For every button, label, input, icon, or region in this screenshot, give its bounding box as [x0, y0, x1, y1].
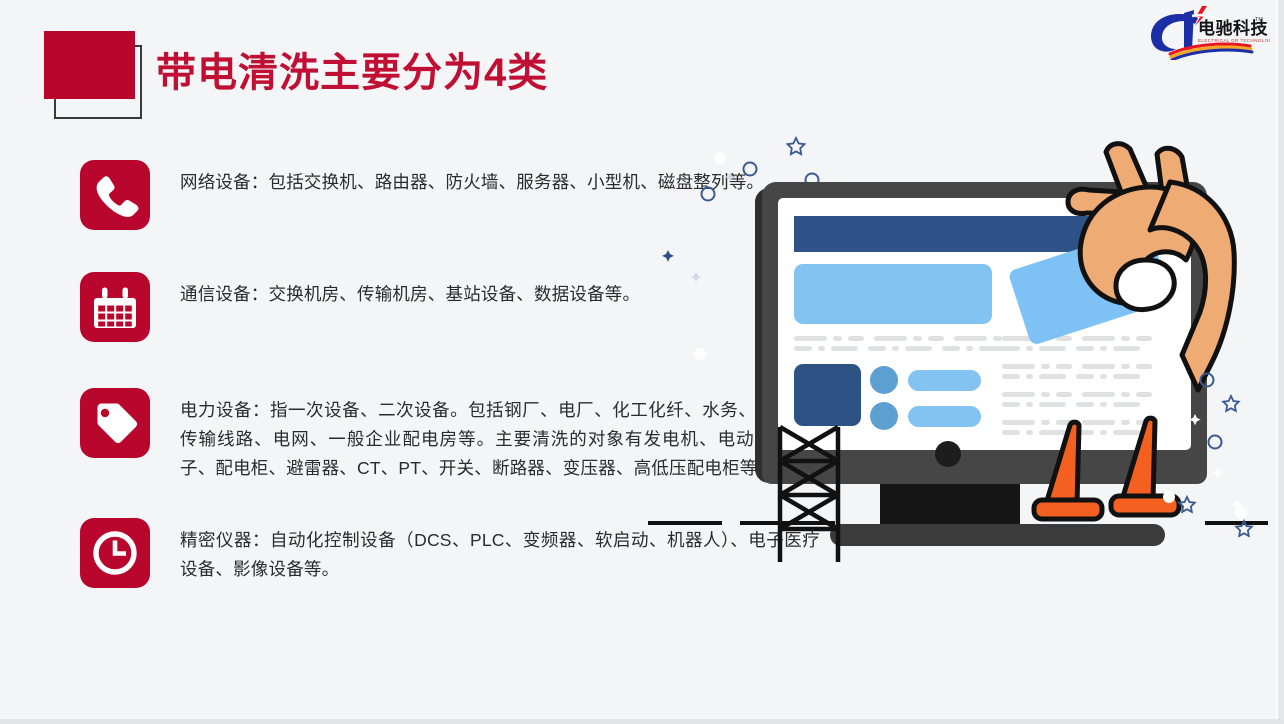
- brand-logo: 电驰科技 ELECTRICAL DR TECHNOLOGY TM: [1140, 4, 1270, 60]
- decor-circle: [702, 188, 715, 201]
- illustration-svg: [630, 112, 1284, 582]
- window-edge-bottom: [0, 719, 1284, 724]
- decor-dot: [1235, 507, 1247, 519]
- calendar-ring-right: [123, 288, 129, 299]
- monitor-neck: [880, 484, 1020, 531]
- tag-body: [96, 403, 137, 443]
- decor-dot: [714, 152, 726, 164]
- calendar-icon: [80, 272, 150, 342]
- phone-icon: [80, 160, 150, 230]
- monitor-hand-tower-cones-illustration: [630, 112, 1284, 582]
- screen-avatar-circle: [870, 402, 898, 430]
- page-title: 带电清洗主要分为4类: [156, 25, 548, 121]
- cone-base: [1034, 500, 1102, 519]
- clock-icon: [80, 518, 150, 588]
- calendar-ring-left: [102, 288, 108, 299]
- brand-logo-svg: 电驰科技 ELECTRICAL DR TECHNOLOGY TM: [1140, 4, 1270, 60]
- phone-glyph: [97, 176, 139, 217]
- window-edge-right: [1278, 0, 1284, 724]
- logo-trademark: TM: [1255, 17, 1263, 23]
- decor-sparkle: [662, 250, 674, 262]
- screen-avatar-circle: [870, 366, 898, 394]
- screen-pill: [908, 406, 981, 427]
- title-square-fill: [44, 31, 135, 99]
- decor-dot: [694, 348, 706, 360]
- logo-brand-en: ELECTRICAL DR TECHNOLOGY: [1198, 38, 1270, 43]
- decor-star: [1223, 396, 1239, 411]
- decor-star: [788, 138, 805, 154]
- screen-pill: [908, 370, 981, 391]
- screen-dark-block: [794, 364, 861, 426]
- tag-hole: [101, 409, 109, 417]
- slide-canvas: 电驰科技 ELECTRICAL DR TECHNOLOGY TM 带电清洗主要分…: [0, 0, 1284, 724]
- monitor-power-button: [935, 441, 961, 467]
- decor-circle: [1209, 436, 1222, 449]
- monitor-base: [830, 524, 1165, 546]
- hand-thumb-hole: [1116, 260, 1174, 310]
- decor-circle: [744, 163, 757, 176]
- clock-hands: [115, 541, 126, 554]
- tag-icon: [80, 388, 150, 458]
- screen-hero-block: [794, 264, 992, 324]
- decor-dot: [1163, 491, 1175, 503]
- decor-star: [1179, 497, 1195, 512]
